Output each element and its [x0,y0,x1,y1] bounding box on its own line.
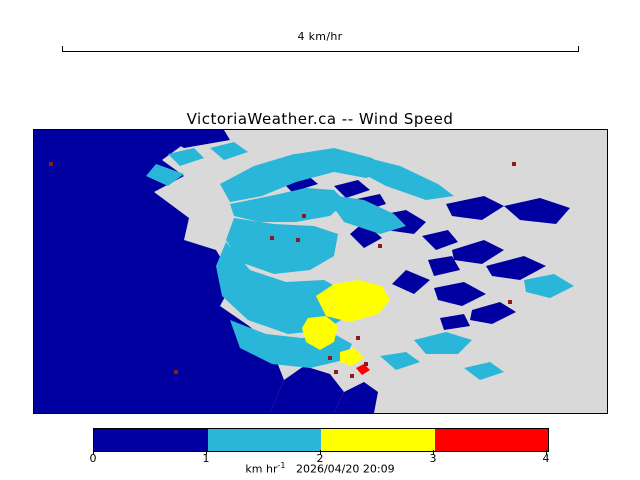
scale-bar: 4 km/hr [0,30,640,60]
map-canvas [34,130,607,413]
legend-units-exponent: -1 [277,461,285,470]
legend-swatch-0 [94,429,208,451]
legend-swatch-2 [321,429,435,451]
page-title: VictoriaWeather.ca -- Wind Speed [0,110,640,128]
map-panel[interactable] [33,129,608,414]
legend-timestamp: 2026/04/20 20:09 [296,463,395,476]
scale-bar-tick-left [62,46,63,52]
legend-units-text: km hr [245,463,277,476]
scale-bar-line [62,51,578,52]
scale-bar-label: 4 km/hr [0,30,640,43]
legend-units-row: km hr-1 2026/04/20 20:09 [0,461,640,476]
scale-bar-tick-right [578,46,579,52]
color-legend [93,428,549,452]
legend-swatch-1 [208,429,322,451]
legend-swatch-3 [435,429,549,451]
